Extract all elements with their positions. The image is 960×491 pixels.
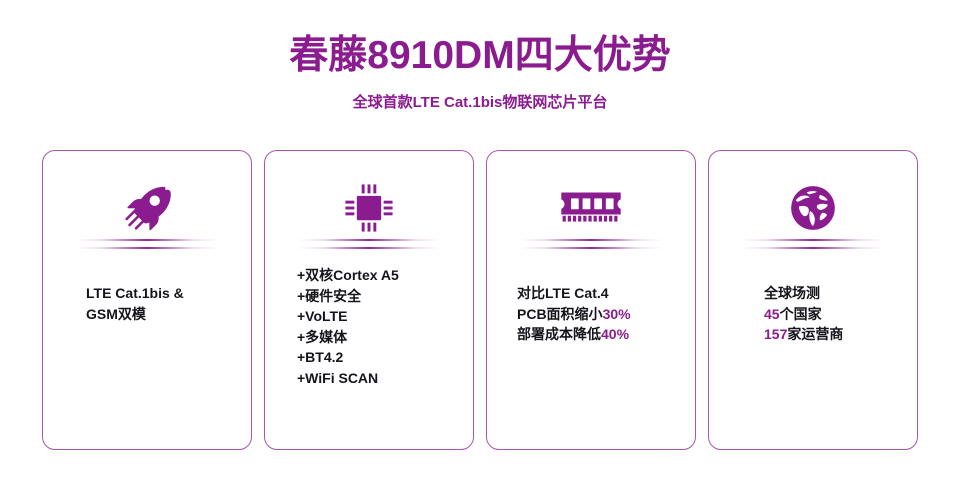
card-line: 全球场测 [764, 283, 914, 304]
card-line-highlight: 30% [603, 306, 631, 322]
page-title: 春藤8910DM四大优势 [0, 32, 960, 80]
card-line: +多媒体 [297, 327, 457, 348]
chip-icon [265, 177, 473, 239]
card-line: +双核Cortex A5 [297, 265, 457, 286]
card-line: 157家运营商 [764, 324, 914, 345]
card-line-highlight: 40% [601, 326, 629, 342]
feature-card-4[interactable]: 全球场测 45个国家 157家运营商 [708, 150, 918, 450]
card-line-text: 个国家 [780, 306, 822, 322]
globe-icon [709, 177, 917, 239]
card-line-highlight: 45 [764, 306, 780, 322]
page-subtitle: 全球首款LTE Cat.1bis物联网芯片平台 [0, 92, 960, 114]
card-line: 部署成本降低40% [517, 324, 677, 345]
memory-module-icon [487, 177, 695, 239]
card-line-text: 部署成本降低 [517, 326, 601, 342]
icon-divider [487, 239, 695, 253]
card-line: +WiFi SCAN [297, 368, 457, 389]
card-line: +硬件安全 [297, 286, 457, 307]
rocket-icon [43, 177, 251, 239]
card-line-text: PCB面积缩小 [517, 306, 603, 322]
feature-card-2-body: +双核Cortex A5 +硬件安全 +VoLTE +多媒体 +BT4.2 +W… [265, 283, 473, 388]
card-line-highlight: 157 [764, 326, 787, 342]
slide-root: 春藤8910DM四大优势 全球首款LTE Cat.1bis物联网芯片平台 [0, 0, 960, 491]
card-line: GSM双模 [86, 304, 240, 325]
header: 春藤8910DM四大优势 全球首款LTE Cat.1bis物联网芯片平台 [0, 32, 960, 114]
feature-card-3[interactable]: 对比LTE Cat.4 PCB面积缩小30% 部署成本降低40% [486, 150, 696, 450]
card-line: 对比LTE Cat.4 [517, 283, 677, 304]
card-line: 45个国家 [764, 304, 914, 325]
card-line: LTE Cat.1bis & [86, 283, 240, 304]
icon-divider [265, 239, 473, 253]
feature-card-4-body: 全球场测 45个国家 157家运营商 [709, 283, 917, 345]
card-line: +BT4.2 [297, 347, 457, 368]
card-line-text: 家运营商 [787, 326, 843, 342]
icon-divider [709, 239, 917, 253]
card-line: PCB面积缩小30% [517, 304, 677, 325]
feature-card-1-body: LTE Cat.1bis & GSM双模 [43, 283, 251, 324]
feature-card-row: LTE Cat.1bis & GSM双模 [42, 150, 918, 450]
icon-divider [43, 239, 251, 253]
feature-card-3-body: 对比LTE Cat.4 PCB面积缩小30% 部署成本降低40% [487, 283, 695, 345]
card-line: +VoLTE [297, 306, 457, 327]
feature-card-1[interactable]: LTE Cat.1bis & GSM双模 [42, 150, 252, 450]
feature-card-2[interactable]: +双核Cortex A5 +硬件安全 +VoLTE +多媒体 +BT4.2 +W… [264, 150, 474, 450]
